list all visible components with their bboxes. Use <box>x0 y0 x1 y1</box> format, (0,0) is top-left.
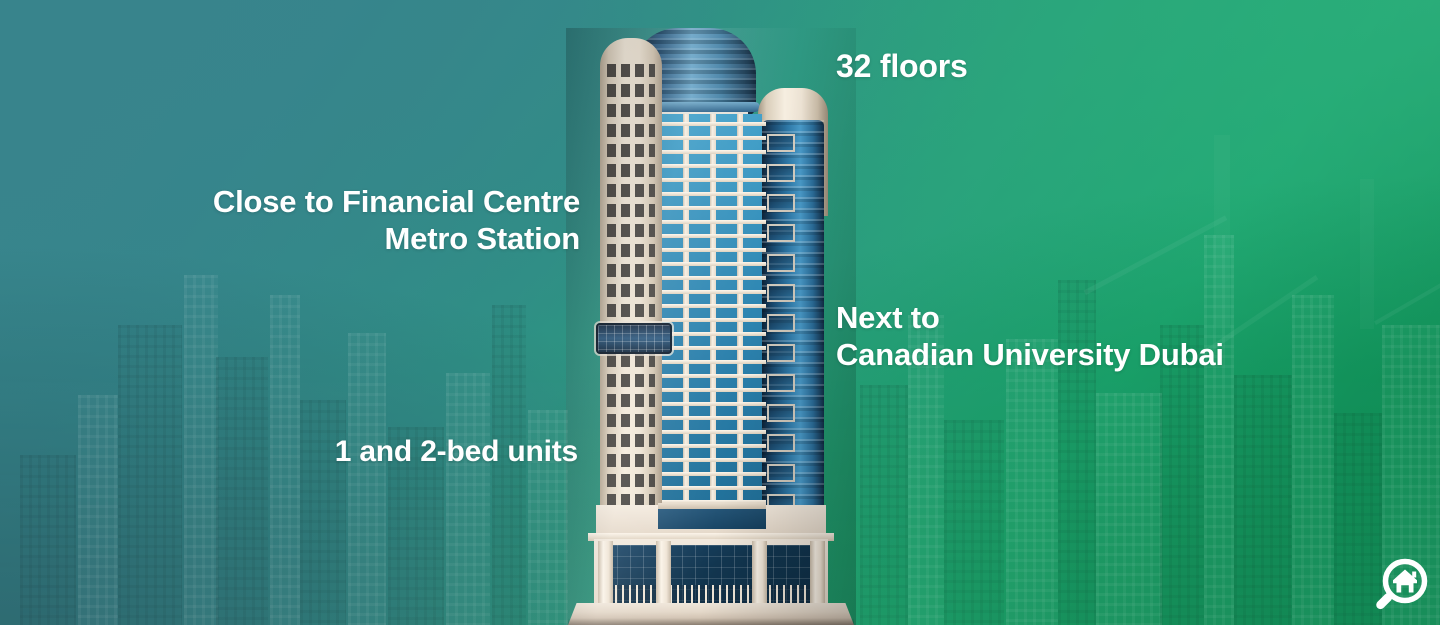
tower-left-block <box>600 38 662 558</box>
tower-center-block <box>658 114 766 562</box>
tower-podium-railing <box>762 585 814 605</box>
tower-podium-column <box>752 541 767 605</box>
tower-right-blue-block <box>762 120 824 562</box>
banner-image: 32 floors Close to Financial Centre Metr… <box>0 0 1440 625</box>
tower-base-shadow <box>568 618 854 625</box>
caption-bed-units: 1 and 2-bed units <box>160 434 578 469</box>
crane-icon <box>1374 262 1440 325</box>
caption-floors: 32 floors <box>836 48 968 86</box>
tower-podium-band-glass <box>658 509 766 529</box>
tower-podium-column <box>810 541 825 605</box>
tower-podium-railing <box>670 585 752 605</box>
house-search-icon <box>1372 558 1428 614</box>
tower-podium-railing <box>608 585 660 605</box>
caption-university: Next to Canadian University Dubai <box>836 300 1224 373</box>
caption-metro-station: Close to Financial Centre Metro Station <box>100 184 580 257</box>
tower-podium-column <box>656 541 671 605</box>
tower-podium-band-ledge <box>658 503 766 509</box>
tower-illustration <box>566 28 856 625</box>
tower-podium-column <box>598 541 613 605</box>
house-search-logo[interactable] <box>1372 558 1428 614</box>
tower-left-glass-band <box>596 323 672 354</box>
